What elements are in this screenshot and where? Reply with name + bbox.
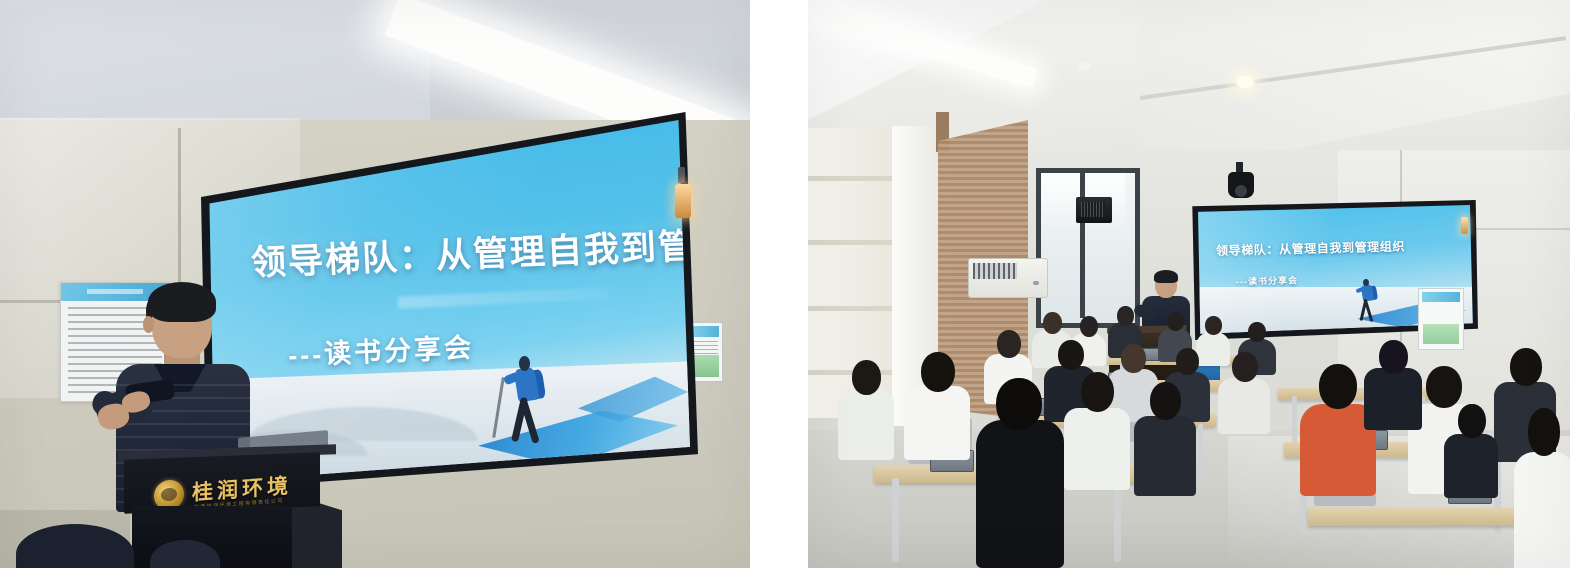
wall-speaker-icon xyxy=(1076,197,1112,223)
ceiling-secondary-plane xyxy=(0,0,430,128)
audience-body xyxy=(1064,408,1130,490)
audience-head xyxy=(1121,344,1146,373)
slide-subtitle: ---读书分享会 xyxy=(287,318,638,373)
audience-head xyxy=(1319,364,1357,409)
podium-front-panel: 桂润环境 广西桂润环境工程有限责任公司 xyxy=(124,452,320,514)
ac-grill xyxy=(973,263,1017,279)
audience-head xyxy=(1080,316,1098,337)
presenter-ear xyxy=(143,316,154,333)
bookshelf-shelf-1 xyxy=(808,176,900,181)
audience-body xyxy=(1218,378,1270,434)
audience-head xyxy=(1150,382,1181,420)
right-panel-photo: 领导梯队：从管理自我到管理组织 ---读书分享会 xyxy=(808,0,1570,568)
audience-body xyxy=(1134,416,1196,496)
display-indicator-light xyxy=(1461,217,1468,234)
left-panel-photo: 领导梯队：从管理自我到管理组织 ---读书分享会 xyxy=(0,0,750,568)
display-indicator-light xyxy=(675,184,691,218)
audience-head xyxy=(1043,312,1062,334)
podium: 桂润环境 广西桂润环境工程有限责任公司 xyxy=(118,448,336,568)
audience-head xyxy=(1117,306,1134,326)
ac-indicator xyxy=(1033,281,1039,285)
air-conditioner xyxy=(968,258,1048,298)
audience-head xyxy=(1426,366,1462,408)
audience-member xyxy=(1514,408,1570,568)
audience-body xyxy=(1444,434,1498,498)
audience-head xyxy=(1528,408,1560,456)
audience-head xyxy=(1205,316,1222,335)
bookshelf-shelf-2 xyxy=(808,240,900,245)
photo-collage: 领导梯队：从管理自我到管理组织 ---读书分享会 xyxy=(0,0,1570,568)
slide-title-glow xyxy=(398,287,608,309)
audience-member xyxy=(1134,382,1196,492)
audience-body xyxy=(976,420,1064,568)
audience-body xyxy=(838,390,894,460)
desk-leg xyxy=(892,478,899,562)
audience-head xyxy=(1176,348,1199,375)
audience-head xyxy=(1232,352,1258,382)
wall-poster-green xyxy=(1418,288,1464,350)
audience-head xyxy=(1081,372,1114,412)
desk-leg xyxy=(1292,396,1297,444)
window-mullion xyxy=(1080,168,1085,318)
recessed-downlight-icon xyxy=(1236,76,1254,88)
ceiling-camera-icon xyxy=(1228,172,1254,198)
recessed-downlight-far xyxy=(1078,62,1091,71)
desk-leg xyxy=(1198,424,1203,482)
audience-head xyxy=(996,378,1042,430)
audience-head xyxy=(921,352,955,392)
audience-body xyxy=(904,386,970,460)
audience-head xyxy=(1458,404,1486,438)
audience-head xyxy=(1510,348,1542,386)
audience-head xyxy=(997,330,1021,358)
climber-silhouette-icon xyxy=(1354,278,1380,326)
audience-member xyxy=(1218,352,1270,430)
display-mount-bracket xyxy=(678,167,685,183)
audience-head xyxy=(1379,340,1408,374)
climber-leg-right xyxy=(1364,299,1374,322)
audience-head xyxy=(1058,340,1084,370)
audience-head xyxy=(1248,322,1266,342)
audience-body xyxy=(1514,452,1570,568)
audience-member xyxy=(1064,372,1130,486)
audience-head xyxy=(1167,312,1184,331)
desk-leg xyxy=(1114,478,1121,562)
presenter-hair xyxy=(148,282,216,322)
poster-header-band xyxy=(1422,292,1460,302)
audience-member xyxy=(904,352,970,456)
audience-body xyxy=(1364,368,1422,430)
climber-silhouette-icon xyxy=(501,354,551,452)
presenter-hair xyxy=(1154,270,1178,283)
audience-member xyxy=(838,360,894,456)
audience-member xyxy=(1364,340,1422,426)
slide-title: 领导梯队：从管理自我到管理组织 xyxy=(250,229,661,282)
audience-member xyxy=(976,378,1064,564)
audience-head xyxy=(852,360,881,395)
audience-member xyxy=(1444,404,1498,494)
bookshelf-shelf-3 xyxy=(808,306,900,311)
poster-green-graphic xyxy=(1423,324,1459,344)
